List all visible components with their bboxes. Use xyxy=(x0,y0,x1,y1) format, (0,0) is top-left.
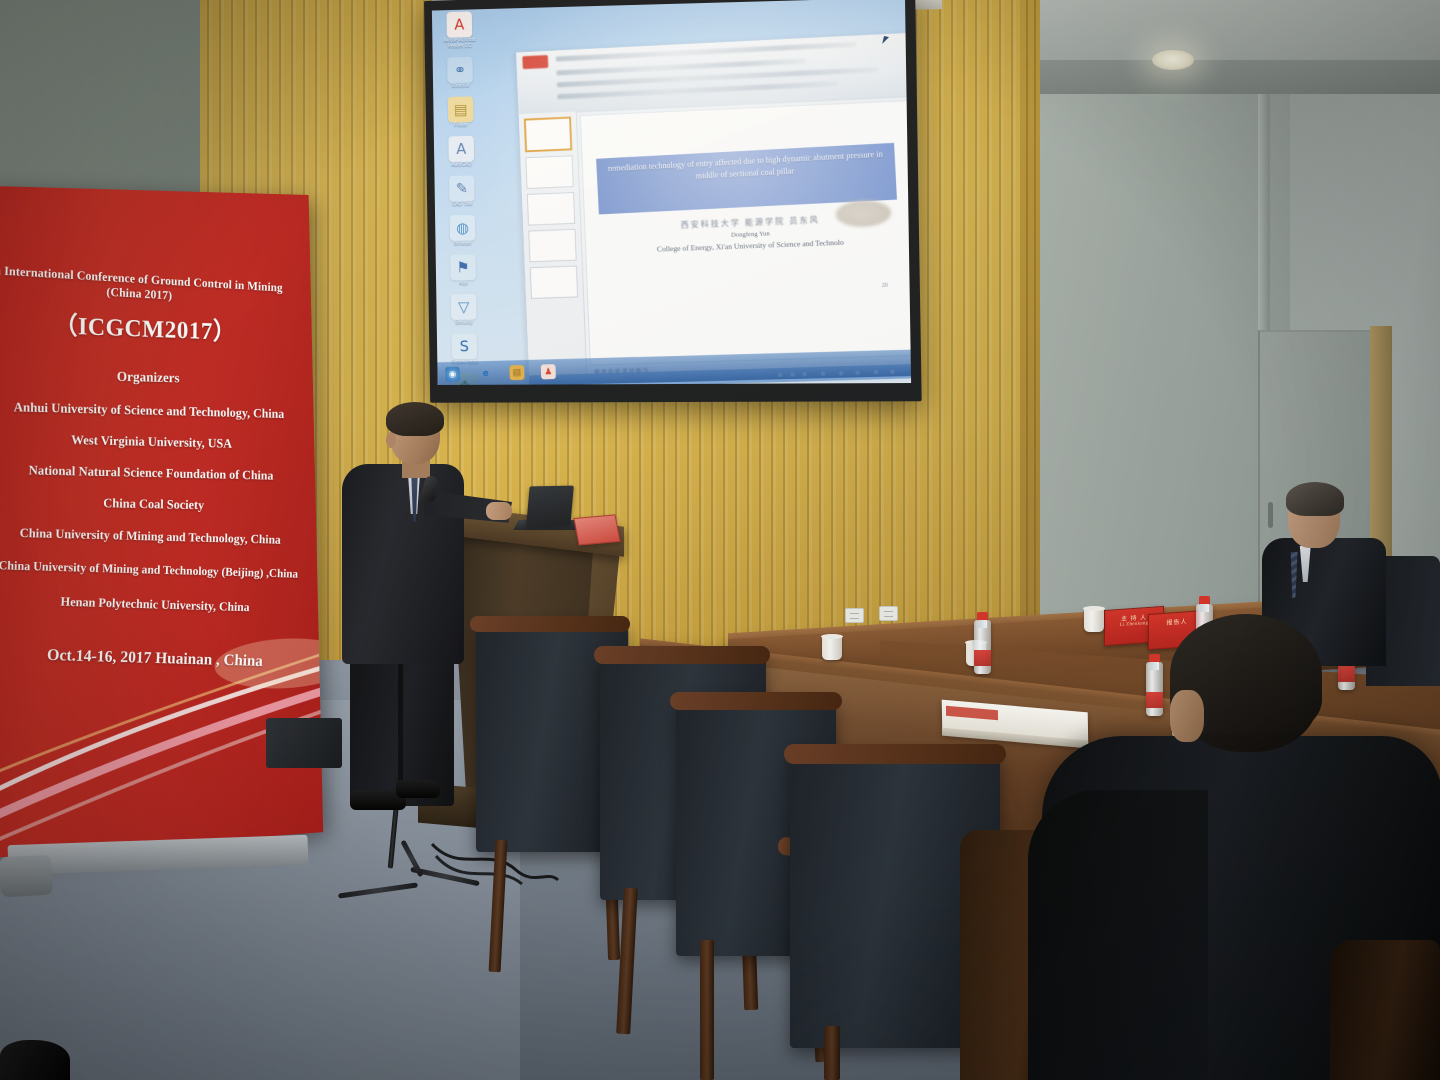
chair-foreground-arm[interactable] xyxy=(1330,940,1440,1080)
paper-cup xyxy=(822,636,842,660)
laptop-screen[interactable] xyxy=(526,486,574,527)
foreground-object xyxy=(0,1040,70,1080)
equipment-box xyxy=(266,718,342,768)
ceiling-soffit xyxy=(1040,60,1440,94)
attendee-right-hair xyxy=(1286,482,1344,516)
speaker-hair xyxy=(386,402,444,436)
banner-headline: th International Conference of Ground Co… xyxy=(0,262,300,311)
attendee-foreground-shoulder xyxy=(1028,790,1208,1080)
banner-date-location: Oct.14-16, 2017 Huainan , China xyxy=(3,644,303,672)
ceiling-downlight-icon xyxy=(1152,50,1194,70)
podium-name-card xyxy=(573,514,620,545)
banner-organizer: China Coal Society xyxy=(0,493,305,515)
conference-room-photo: A Adobe Acrobat Reader DC ⚭ Shortcut ▤ F… xyxy=(0,0,1440,1080)
attendee-foreground-face xyxy=(1170,690,1204,742)
wall-outlet[interactable] xyxy=(879,606,898,621)
banner-organizer: China University of Mining and Technolog… xyxy=(0,525,304,548)
speaker-shoe xyxy=(396,780,440,798)
banner-organizer: China University of Mining and Technolog… xyxy=(0,558,303,581)
banner-organizer: West Virginia University, USA xyxy=(0,430,304,453)
door-handle[interactable] xyxy=(1268,502,1273,528)
banner-organizer: National Natural Science Foundation of C… xyxy=(0,462,304,485)
paper-cup xyxy=(1084,608,1104,632)
wall-outlet[interactable] xyxy=(845,608,864,623)
banner-organizer: Henan Polytechnic University, China xyxy=(0,593,307,617)
projection-screen[interactable]: A Adobe Acrobat Reader DC ⚭ Shortcut ▤ F… xyxy=(424,0,922,403)
banner-organizer: Anhui University of Science and Technolo… xyxy=(0,399,303,422)
screen-glare xyxy=(432,0,911,385)
water-bottle xyxy=(1146,662,1163,716)
water-bottle xyxy=(974,620,991,674)
speaker-hand xyxy=(486,502,512,520)
banner-stand-foot xyxy=(0,855,53,898)
speaker-ear xyxy=(386,432,396,448)
banner-acronym: （ICGCM2017） xyxy=(0,303,298,350)
projected-desktop: A Adobe Acrobat Reader DC ⚭ Shortcut ▤ F… xyxy=(432,0,911,385)
banner-organizers-label: Organizers xyxy=(0,366,295,390)
